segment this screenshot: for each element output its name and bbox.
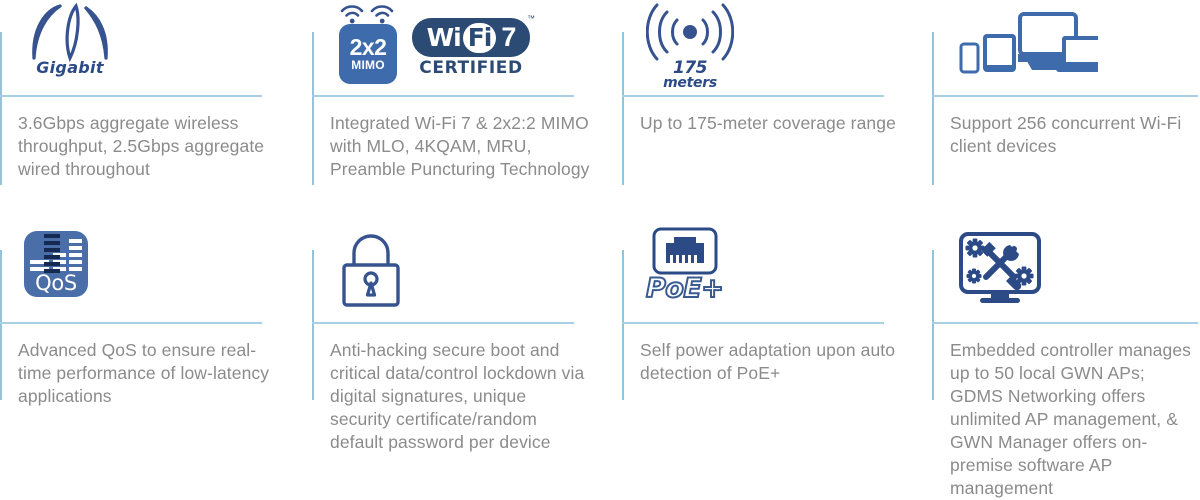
monitor-tools-management-icon xyxy=(958,231,1042,326)
feature-description: Embedded controller manages up to 50 loc… xyxy=(950,339,1198,500)
card-accent-rule xyxy=(932,250,934,400)
feature-description: Integrated Wi-Fi 7 & 2x2:2 MIMO with MLO… xyxy=(330,112,592,181)
feature-card-controller: Embedded controller manages up to 50 loc… xyxy=(932,215,1200,487)
wifi-waves-icon xyxy=(338,2,398,24)
wifi7-pill: Wi Fi 7 ™ xyxy=(412,18,530,57)
wifi7-logo: Wi Fi 7 ™ CERTIFIED xyxy=(412,18,530,78)
feature-card-coverage: 175 meters Up to 175-meter coverage rang… xyxy=(622,0,932,215)
feature-description: Support 256 concurrent Wi-Fi client devi… xyxy=(950,112,1186,158)
card-accent-rule xyxy=(312,32,314,185)
mimo-chip: 2x2 MIMO xyxy=(339,24,397,84)
feature-card-wifi7: 2x2 MIMO Wi Fi 7 ™ CERTIFIED Integrated … xyxy=(312,0,622,215)
coverage-unit: meters xyxy=(663,76,717,91)
poe-icon-label: PoE+ xyxy=(646,273,723,304)
coverage-icon-label: 175 meters xyxy=(663,60,717,91)
monitor-tools-glyph xyxy=(958,231,1042,307)
card-accent-rule xyxy=(622,32,624,185)
feature-description: Advanced QoS to ensure real-time perform… xyxy=(18,339,278,408)
gigabit-gauge-glyph xyxy=(24,2,116,62)
feature-card-security: Anti-hacking secure boot and critical da… xyxy=(312,215,622,487)
card-accent-rule xyxy=(932,32,934,185)
feature-card-gigabit: Gigabit 3.6Gbps aggregate wireless throu… xyxy=(0,0,312,215)
wifi-logo-wi: Wi xyxy=(427,23,461,52)
card-accent-rule xyxy=(312,250,314,400)
wifi-logo-fi: Fi xyxy=(463,23,497,53)
feature-card-clients: Support 256 concurrent Wi-Fi client devi… xyxy=(932,0,1200,215)
feature-card-qos: QoS Advanced QoS to ensure real-time per… xyxy=(0,215,312,487)
feature-description: 3.6Gbps aggregate wireless throughput, 2… xyxy=(18,112,273,181)
card-accent-rule xyxy=(0,32,2,185)
qos-chip: QoS xyxy=(24,231,88,297)
feature-description: Up to 175-meter coverage range xyxy=(640,112,900,135)
padlock-glyph xyxy=(338,231,404,307)
feature-description: Self power adaptation upon auto detectio… xyxy=(640,339,900,385)
rj45-jack-glyph xyxy=(652,227,718,275)
card-accent-rule xyxy=(0,250,2,400)
mimo-secondary-label: MIMO xyxy=(351,58,384,73)
coverage-range-signal-icon: 175 meters xyxy=(646,2,734,97)
wifi7-certified-badge-icon: 2x2 MIMO Wi Fi 7 ™ CERTIFIED xyxy=(338,2,530,97)
multi-device-icon xyxy=(958,8,1098,103)
gigabit-icon-label: Gigabit xyxy=(36,58,104,77)
feature-grid: Gigabit 3.6Gbps aggregate wireless throu… xyxy=(0,0,1200,487)
card-accent-rule xyxy=(622,250,624,400)
wifi-certified-label: CERTIFIED xyxy=(412,58,530,78)
feature-description: Anti-hacking secure boot and critical da… xyxy=(330,339,592,454)
card-divider xyxy=(622,322,884,324)
poe-rj45-port-icon: PoE+ xyxy=(646,227,723,322)
gigabit-speedometer-icon: Gigabit xyxy=(24,2,116,97)
trademark-icon: ™ xyxy=(527,14,535,23)
radiating-signal-glyph xyxy=(646,2,734,62)
padlock-security-icon xyxy=(338,231,404,326)
qos-icon-label: QoS xyxy=(24,271,88,295)
devices-glyph xyxy=(958,8,1098,80)
qos-equalizer-icon: QoS xyxy=(24,231,88,326)
mimo-primary-label: 2x2 xyxy=(350,36,387,58)
feature-card-poe: PoE+ Self power adaptation upon auto det… xyxy=(622,215,932,487)
wifi-logo-seven: 7 xyxy=(501,22,515,53)
